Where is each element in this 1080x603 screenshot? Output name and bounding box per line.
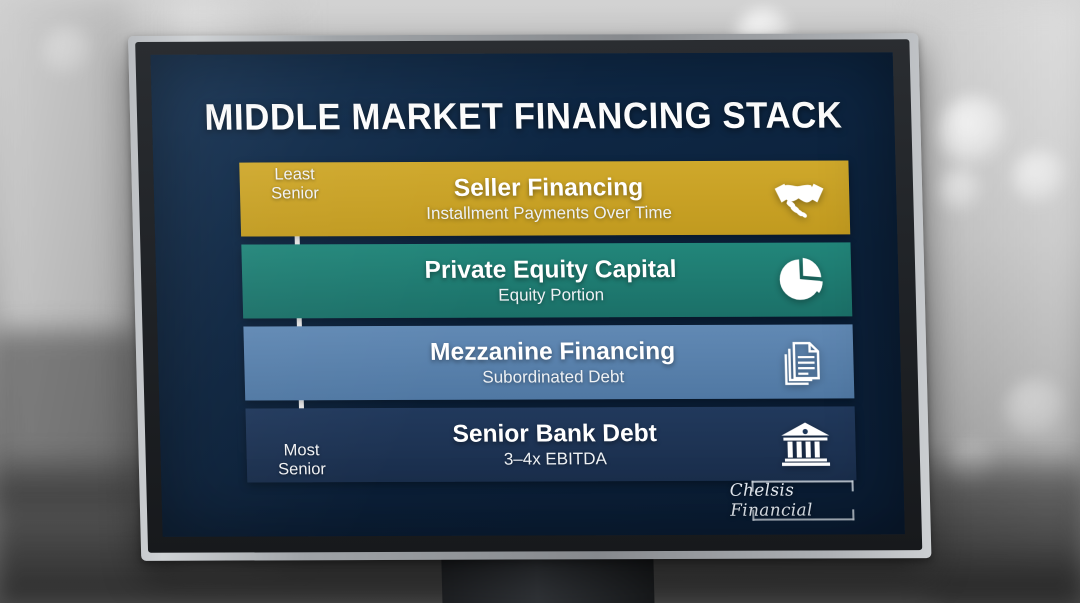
stack-row-subtitle: Installment Payments Over Time (286, 201, 812, 224)
monitor-outer-shell: MIDDLE MARKET FINANCING STACK (128, 33, 931, 561)
financing-stack-rows: Least Senior Seller Financing Installmen… (239, 160, 856, 482)
bank-building-icon (779, 419, 832, 467)
stack-row-senior-bank-debt[interactable]: Most Senior Senior Bank Debt 3–4x EBITDA (245, 406, 856, 482)
brand-logo-text: Chelsis Financial (729, 480, 876, 520)
screenshot-stage: MIDDLE MARKET FINANCING STACK (0, 0, 1080, 603)
monitor-screen: MIDDLE MARKET FINANCING STACK (150, 52, 904, 536)
monitor-stand-neck (441, 554, 655, 603)
brand-logo: Chelsis Financial (729, 480, 876, 520)
stack-row-title: Private Equity Capital (288, 255, 814, 284)
stack-row-mezzanine-financing[interactable]: Mezzanine Financing Subordinated Debt (243, 324, 854, 400)
rank-label-line2: Senior (252, 184, 339, 203)
stack-row-seller-financing[interactable]: Least Senior Seller Financing Installmen… (239, 160, 850, 236)
documents-icon (777, 337, 830, 385)
rank-label-most-senior: Most Senior (258, 441, 345, 479)
background-bokeh-light (938, 96, 1010, 168)
pie-chart-icon (775, 256, 828, 304)
stack-row-private-equity-capital[interactable]: Private Equity Capital Equity Portion (241, 242, 852, 318)
monitor: MIDDLE MARKET FINANCING STACK (128, 33, 931, 561)
page-title: MIDDLE MARKET FINANCING STACK (152, 94, 895, 139)
page-title-text: MIDDLE MARKET FINANCING STACK (204, 94, 843, 138)
background-bokeh-light (1012, 150, 1068, 206)
background-bokeh-light (1005, 378, 1067, 440)
handshake-icon (773, 174, 826, 222)
stack-row-title: Seller Financing (286, 173, 812, 202)
monitor-bezel: MIDDLE MARKET FINANCING STACK (135, 39, 922, 553)
stack-row-text: Private Equity Capital Equity Portion (242, 255, 852, 306)
rank-label-least-senior: Least Senior (251, 165, 338, 203)
stack-row-subtitle: 3–4x EBITDA (292, 447, 818, 470)
presentation-slide: MIDDLE MARKET FINANCING STACK (150, 52, 904, 536)
stack-row-subtitle: Equity Portion (288, 283, 814, 306)
rank-label-line2: Senior (259, 460, 346, 479)
background-bokeh-light (42, 26, 94, 78)
background-bokeh-light (938, 168, 984, 214)
rank-label-line1: Most (258, 441, 345, 460)
rank-label-line1: Least (251, 165, 338, 184)
stack-row-text: Mezzanine Financing Subordinated Debt (244, 337, 854, 388)
stack-row-title: Mezzanine Financing (290, 337, 816, 366)
stack-row-subtitle: Subordinated Debt (290, 365, 816, 388)
stack-row-title: Senior Bank Debt (292, 419, 818, 448)
